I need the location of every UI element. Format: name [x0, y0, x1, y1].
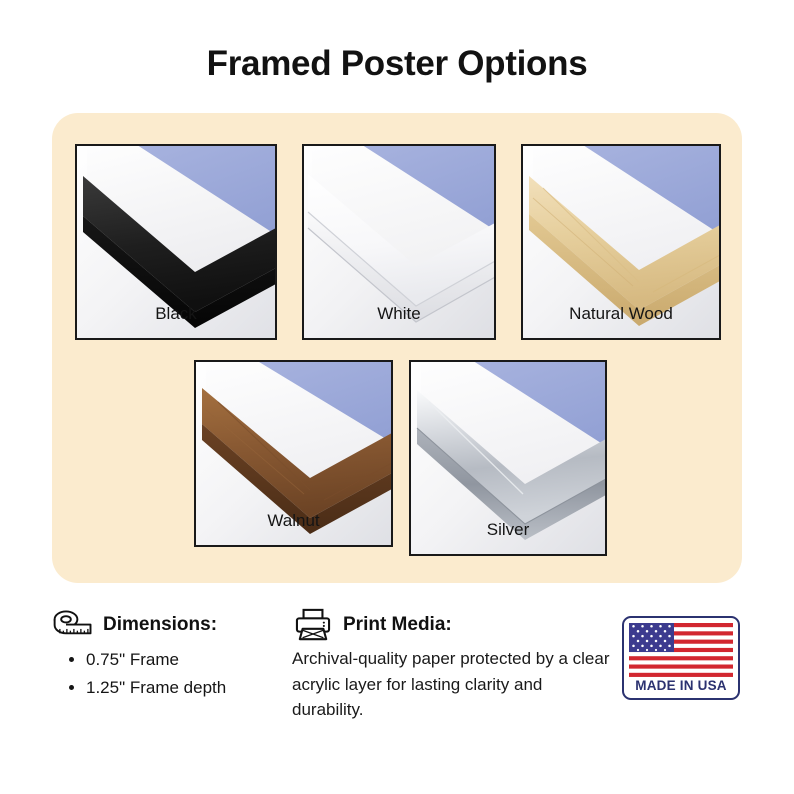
dimensions-section: Dimensions: 0.75" Frame 1.25" Frame dept…: [52, 608, 282, 701]
print-media-heading: Print Media:: [343, 614, 452, 636]
dimensions-list: 0.75" Frame 1.25" Frame depth: [52, 646, 282, 701]
frame-swatch-walnut[interactable]: Walnut: [194, 360, 393, 547]
frame-swatch-black[interactable]: Black: [75, 144, 277, 340]
frame-swatch-silver[interactable]: Silver: [409, 360, 607, 556]
frame-swatch-label: Natural Wood: [523, 304, 719, 324]
dimensions-heading-line: Dimensions:: [52, 608, 282, 642]
frame-swatch-label: Silver: [411, 520, 605, 540]
usa-flag-icon: [629, 623, 733, 677]
page-title: Framed Poster Options: [0, 44, 794, 84]
tape-measure-icon: [52, 608, 94, 642]
made-in-usa-badge: MADE IN USA: [622, 616, 740, 700]
frame-swatch-label: Black: [77, 304, 275, 324]
printer-icon: [292, 608, 334, 642]
list-item: 0.75" Frame: [86, 646, 282, 674]
frame-swatch-natural-wood[interactable]: Natural Wood: [521, 144, 721, 340]
product-info-row: Dimensions: 0.75" Frame 1.25" Frame dept…: [0, 598, 794, 748]
made-in-usa-text: MADE IN USA: [635, 678, 726, 693]
frame-swatch-label: Walnut: [196, 511, 391, 531]
frame-swatch-label: White: [304, 304, 494, 324]
frame-swatch-white[interactable]: White: [302, 144, 496, 340]
made-in-usa-section: MADE IN USA: [622, 616, 746, 700]
list-item: 1.25" Frame depth: [86, 674, 282, 702]
print-media-body: Archival-quality paper protected by a cl…: [292, 646, 612, 723]
print-media-section: Print Media: Archival-quality paper prot…: [292, 608, 612, 723]
print-media-heading-line: Print Media:: [292, 608, 612, 642]
dimensions-heading: Dimensions:: [103, 614, 217, 636]
